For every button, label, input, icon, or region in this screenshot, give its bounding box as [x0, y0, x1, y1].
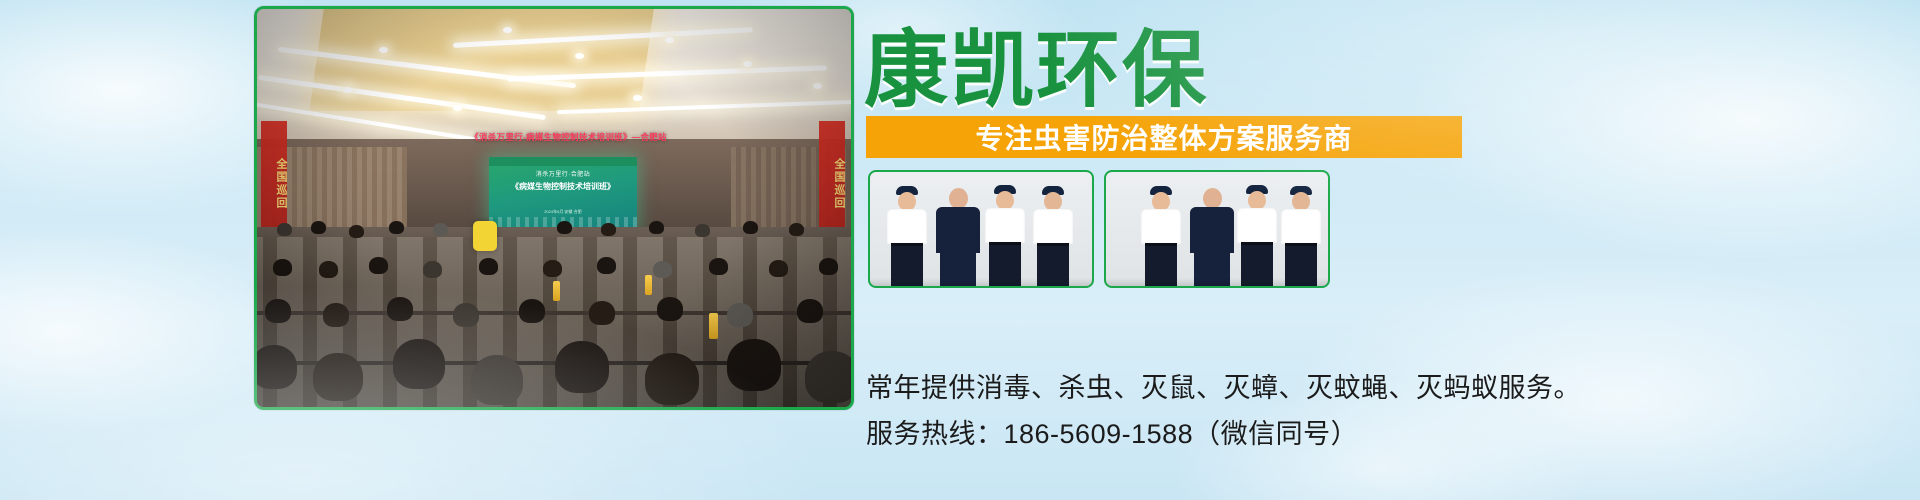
person-suit [936, 207, 980, 253]
downlight [813, 83, 822, 89]
conference-photo: 全国巡回 全国巡回 消杀万里行·合肥站 《病媒生物控制技术培训班》 2024年6… [254, 6, 854, 410]
audience-head [597, 257, 616, 274]
audience-head [423, 261, 442, 278]
audience-head-foreground [805, 351, 851, 403]
person-shirt [887, 209, 927, 244]
person-belt [1241, 242, 1273, 245]
audience-head [589, 301, 615, 325]
brand-title-text: 康凯环保 [864, 23, 1208, 117]
audience-head [727, 303, 753, 327]
audience-head [649, 221, 664, 234]
audience-head-foreground [555, 341, 609, 393]
screen-line-3: 2024年6月 安徽·合肥 [489, 209, 637, 215]
vertical-banner-right: 全国巡回 [819, 121, 845, 241]
audience-head-foreground [645, 353, 699, 405]
audience-head [695, 224, 710, 237]
person-belt [1037, 243, 1069, 246]
person-shirt [1281, 209, 1321, 244]
audience-head [743, 221, 758, 234]
person-shirt [1033, 209, 1073, 244]
services-line: 常年提供消毒、杀虫、灭鼠、灭蟑、灭蚊蝇、灭蚂蚁服务。 [866, 366, 1581, 405]
audience-head [519, 299, 545, 323]
brand-title: 康凯环保 [864, 28, 1208, 112]
audience-head [769, 260, 788, 277]
downlight [575, 53, 584, 59]
staff-vest [473, 221, 497, 251]
audience-head [819, 258, 838, 275]
person-shirt [1237, 208, 1277, 243]
audience-head-foreground [393, 339, 445, 389]
audience-head [389, 221, 404, 234]
hotline-line: 服务热线：186-5609-1588（微信同号） [866, 412, 1358, 451]
audience-head [789, 223, 804, 236]
audience-head-foreground [313, 353, 363, 401]
audience-head [387, 297, 413, 321]
screen-line-2: 《病媒生物控制技术培训班》 [489, 181, 637, 192]
screen-line-1: 消杀万里行·合肥站 [489, 169, 637, 178]
audience-head-foreground [471, 355, 523, 405]
photo-floor-shadow [870, 278, 1092, 286]
person-head [949, 188, 968, 209]
photo-floor-shadow [1106, 278, 1328, 286]
audience-head [277, 223, 292, 236]
audience-head [349, 225, 364, 238]
audience-head [265, 299, 291, 323]
person-shirt [985, 208, 1025, 243]
audience-head [797, 299, 823, 323]
audience-head [479, 258, 498, 275]
downlight [343, 87, 352, 93]
person-belt [989, 242, 1021, 245]
brand-subtitle-bar: 专注虫害防治整体方案服务商 [866, 116, 1462, 158]
person-belt [1145, 243, 1177, 246]
brand-subtitle-text: 专注虫害防治整体方案服务商 [975, 117, 1352, 157]
audience-head [319, 261, 338, 278]
downlight [665, 37, 674, 43]
team-photo-1 [868, 170, 1094, 288]
audience-head [657, 297, 683, 321]
water-bottle [553, 281, 560, 301]
audience-head [323, 303, 349, 327]
team-photo-row [868, 170, 1330, 288]
conference-hall-scene: 全国巡回 全国巡回 消杀万里行·合肥站 《病媒生物控制技术培训班》 2024年6… [257, 9, 851, 407]
person-belt [1285, 243, 1317, 246]
audience-head [369, 257, 388, 274]
audience-head [453, 303, 479, 327]
person-head [1203, 188, 1222, 209]
water-bottle [645, 275, 652, 295]
audience-head [709, 258, 728, 275]
audience-head [273, 259, 292, 276]
audience-head [433, 223, 448, 236]
right-content-column: 康凯环保 专注虫害防治整体方案服务商 [864, 0, 1920, 500]
water-bottle [709, 313, 718, 339]
audience-head [543, 260, 562, 277]
person-belt [891, 243, 923, 246]
downlight [453, 105, 462, 111]
audience-head-foreground [727, 339, 781, 391]
audience-head [653, 261, 672, 278]
photo-red-banner-text: 《消杀万里行-病媒生物控制技术培训班》—合肥站 [461, 129, 676, 145]
downlight [743, 61, 752, 67]
downlight [379, 47, 388, 53]
person-shirt [1141, 209, 1181, 244]
screen-header-bar [489, 157, 637, 166]
audience-head-foreground [257, 345, 297, 389]
person-suit [1190, 207, 1234, 253]
downlight [633, 95, 642, 101]
promo-banner: 全国巡回 全国巡回 消杀万里行·合肥站 《病媒生物控制技术培训班》 2024年6… [0, 0, 1920, 500]
team-photo-2 [1104, 170, 1330, 288]
audience-head [557, 221, 572, 234]
audience-head [311, 221, 326, 234]
audience-head [601, 223, 616, 236]
downlight [503, 27, 512, 33]
